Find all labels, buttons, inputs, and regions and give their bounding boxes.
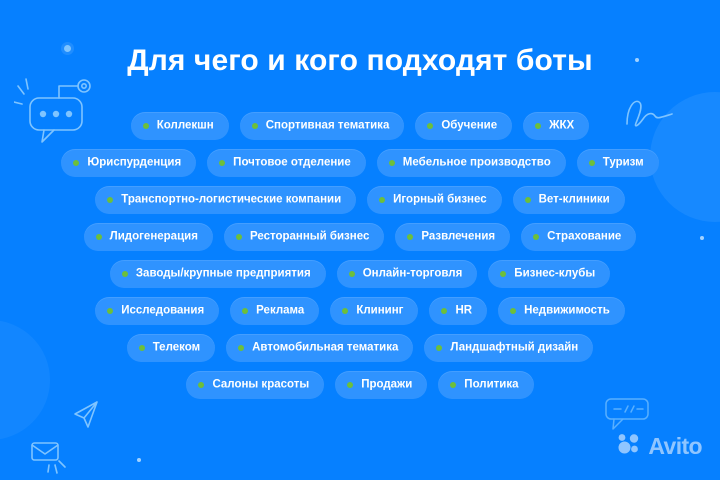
bullet-dot-icon xyxy=(219,160,225,166)
tag-pill[interactable]: Вет-клиники xyxy=(513,186,625,214)
tag-row: ЮриспурденцияПочтовое отделениеМебельное… xyxy=(0,149,720,177)
tag-pill-label: Туризм xyxy=(603,158,644,170)
tag-pill[interactable]: Онлайн-торговля xyxy=(337,260,478,288)
bullet-dot-icon xyxy=(73,160,79,166)
bullet-dot-icon xyxy=(236,234,242,240)
tag-pill-label: Заводы/крупные предприятия xyxy=(136,269,311,281)
tag-pill-label: Почтовое отделение xyxy=(233,158,351,170)
bullet-dot-icon xyxy=(510,308,516,314)
tag-pill-label: Бизнес-клубы xyxy=(514,269,595,281)
bullet-dot-icon xyxy=(107,197,113,203)
envelope-icon xyxy=(28,437,70,475)
tag-row: Заводы/крупные предприятияОнлайн-торговл… xyxy=(0,260,720,288)
avito-watermark: Avito xyxy=(617,433,702,460)
tag-pill-label: Телеком xyxy=(153,343,200,355)
tag-pill[interactable]: Игорный бизнес xyxy=(367,186,501,214)
tag-pill[interactable]: Заводы/крупные предприятия xyxy=(110,260,326,288)
bullet-dot-icon xyxy=(436,345,442,351)
tag-pill[interactable]: Ресторанный бизнес xyxy=(224,223,384,251)
tag-pill[interactable]: Спортивная тематика xyxy=(240,112,405,140)
bullet-dot-icon xyxy=(450,382,456,388)
tag-pill-label: Реклама xyxy=(256,306,304,318)
tag-pill-label: Ресторанный бизнес xyxy=(250,232,369,244)
bullet-dot-icon xyxy=(198,382,204,388)
bullet-dot-icon xyxy=(535,123,541,129)
bullet-dot-icon xyxy=(139,345,145,351)
bullet-dot-icon xyxy=(96,234,102,240)
tag-pill-label: Онлайн-торговля xyxy=(363,269,463,281)
tag-pill[interactable]: ЖКХ xyxy=(523,112,589,140)
tag-pill-label: Политика xyxy=(464,380,518,392)
avito-wordmark: Avito xyxy=(648,433,702,460)
tag-pill-label: Игорный бизнес xyxy=(393,195,486,207)
tag-pill[interactable]: Автомобильная тематика xyxy=(226,334,413,362)
tag-pill[interactable]: Коллекшн xyxy=(131,112,229,140)
bullet-dot-icon xyxy=(427,123,433,129)
tag-pill[interactable]: Обучение xyxy=(415,112,512,140)
bullet-dot-icon xyxy=(389,160,395,166)
bullet-dot-icon xyxy=(238,345,244,351)
bullet-dot-icon xyxy=(143,123,149,129)
tag-pill[interactable]: Развлечения xyxy=(395,223,510,251)
tag-pill-label: Развлечения xyxy=(421,232,495,244)
tag-pill-label: HR xyxy=(455,306,472,318)
tag-pill-label: Страхование xyxy=(547,232,621,244)
tag-pill[interactable]: Транспортно-логистические компании xyxy=(95,186,356,214)
tag-pill-label: Вет-клиники xyxy=(539,195,610,207)
tag-pill-label: Автомобильная тематика xyxy=(252,343,398,355)
bullet-dot-icon xyxy=(242,308,248,314)
tag-rows: КоллекшнСпортивная тематикаОбучениеЖКХЮр… xyxy=(0,112,720,408)
tag-pill[interactable]: Ландшафтный дизайн xyxy=(424,334,593,362)
tag-pill-label: Обучение xyxy=(441,121,497,133)
bullet-dot-icon xyxy=(122,271,128,277)
tag-pill[interactable]: Почтовое отделение xyxy=(207,149,366,177)
tag-pill-label: Продажи xyxy=(361,380,412,392)
tag-row: ИсследованияРекламаКлинингHRНедвижимость xyxy=(0,297,720,325)
tag-row: ЛидогенерацияРесторанный бизнесРазвлечен… xyxy=(0,223,720,251)
bullet-dot-icon xyxy=(525,197,531,203)
tag-pill-label: Исследования xyxy=(121,306,204,318)
bullet-dot-icon xyxy=(347,382,353,388)
tag-pill[interactable]: Страхование xyxy=(521,223,636,251)
bullet-dot-icon xyxy=(342,308,348,314)
tag-pill-label: Юриспурденция xyxy=(87,158,181,170)
tag-row: Транспортно-логистические компанииИгорны… xyxy=(0,186,720,214)
tag-pill[interactable]: Исследования xyxy=(95,297,219,325)
tag-pill-label: Лидогенерация xyxy=(110,232,198,244)
tag-pill[interactable]: HR xyxy=(429,297,487,325)
tag-pill[interactable]: Политика xyxy=(438,371,533,399)
tag-pill[interactable]: Продажи xyxy=(335,371,427,399)
bullet-dot-icon xyxy=(441,308,447,314)
tag-row: Салоны красотыПродажиПолитика xyxy=(0,371,720,399)
bullet-dot-icon xyxy=(349,271,355,277)
tag-pill-label: Клининг xyxy=(356,306,403,318)
tag-pill[interactable]: Бизнес-клубы xyxy=(488,260,610,288)
bullet-dot-icon xyxy=(107,308,113,314)
tag-pill[interactable]: Мебельное производство xyxy=(377,149,566,177)
tag-row: КоллекшнСпортивная тематикаОбучениеЖКХ xyxy=(0,112,720,140)
tag-pill-label: Мебельное производство xyxy=(403,158,551,170)
banner-root: Для чего и кого подходят боты КоллекшнСп… xyxy=(0,0,720,480)
tag-pill[interactable]: Клининг xyxy=(330,297,418,325)
tag-pill[interactable]: Салоны красоты xyxy=(186,371,324,399)
bullet-dot-icon xyxy=(589,160,595,166)
tag-pill[interactable]: Недвижимость xyxy=(498,297,625,325)
tag-pill[interactable]: Лидогенерация xyxy=(84,223,213,251)
tag-pill[interactable]: Юриспурденция xyxy=(61,149,196,177)
bullet-dot-icon xyxy=(252,123,258,129)
tag-pill-label: ЖКХ xyxy=(549,121,574,133)
tag-pill-label: Спортивная тематика xyxy=(266,121,390,133)
avito-logo-icon xyxy=(617,433,643,460)
bullet-dot-icon xyxy=(533,234,539,240)
tag-pill[interactable]: Реклама xyxy=(230,297,319,325)
tag-pill-label: Коллекшн xyxy=(157,121,214,133)
tag-pill-label: Ландшафтный дизайн xyxy=(450,343,578,355)
tag-row: ТелекомАвтомобильная тематикаЛандшафтный… xyxy=(0,334,720,362)
tag-pill-label: Транспортно-логистические компании xyxy=(121,195,341,207)
tag-pill-label: Салоны красоты xyxy=(212,380,309,392)
bullet-dot-icon xyxy=(407,234,413,240)
bullet-dot-icon xyxy=(379,197,385,203)
tiny-dot-icon xyxy=(137,458,141,462)
bullet-dot-icon xyxy=(500,271,506,277)
tag-pill-label: Недвижимость xyxy=(524,306,610,318)
page-title: Для чего и кого подходят боты xyxy=(0,44,720,77)
tag-pill[interactable]: Туризм xyxy=(577,149,659,177)
tag-pill[interactable]: Телеком xyxy=(127,334,215,362)
